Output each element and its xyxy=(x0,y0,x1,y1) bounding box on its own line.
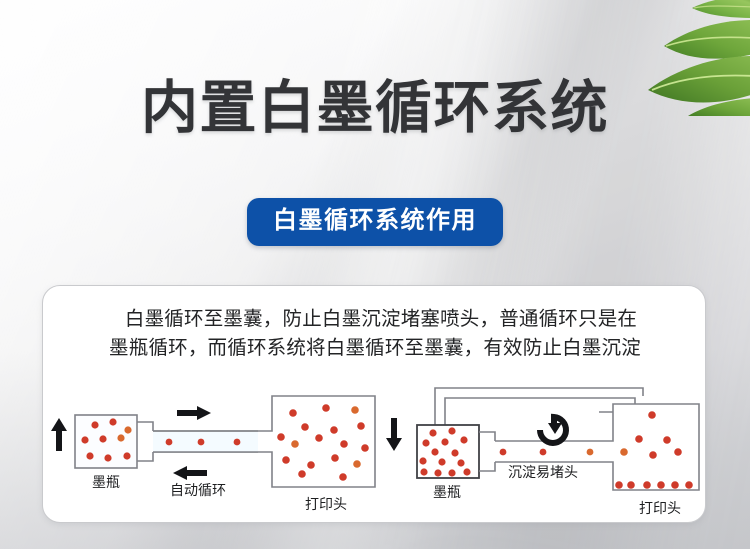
ink-bottle-left-neck xyxy=(137,422,153,461)
outer-return-pipe-right xyxy=(435,388,643,426)
info-card: 白墨循环至墨囊，防止白墨沉淀堵塞喷头，普通循环只是在 墨瓶循环，而循环系统将白墨… xyxy=(42,285,706,523)
card-body-line-2: 墨瓶循环，而循环系统将白墨循环至墨囊，有效防止白墨沉淀 xyxy=(109,336,641,359)
page-title: 内置白墨循环系统 xyxy=(0,74,750,142)
inner-return-pipe-right xyxy=(445,398,635,426)
label-auto-circulation: 自动循环 xyxy=(170,483,226,499)
badge-container: 白墨循环系统作用 xyxy=(0,198,750,246)
ordinary-circulation-diagram: 墨瓶 沉淀易堵头 打印头 xyxy=(417,388,699,517)
circulation-system-diagram: 墨瓶 自动循环 打印头 xyxy=(51,396,402,513)
leaf-blade-2 xyxy=(664,20,750,59)
section-badge: 白墨循环系统作用 xyxy=(247,198,503,246)
label-sediment-clog: 沉淀易堵头 xyxy=(508,465,578,481)
leaf-blade-1 xyxy=(692,0,750,18)
label-ink-bottle-left: 墨瓶 xyxy=(92,475,120,491)
arrow-up-icon xyxy=(51,418,67,451)
label-printhead-left: 打印头 xyxy=(305,496,347,513)
ink-bottle-right-neck xyxy=(479,432,495,471)
promo-banner: 内置白墨循环系统 白墨循环系统作用 白墨循环至墨囊，防止白墨沉淀堵塞喷头，普通循… xyxy=(0,0,750,549)
arrow-down-icon xyxy=(386,418,402,451)
label-printhead-right: 打印头 xyxy=(639,500,681,517)
arrow-curved-right-icon xyxy=(540,417,566,443)
label-ink-bottle-right: 墨瓶 xyxy=(433,485,461,501)
card-body-line-1: 白墨循环至墨囊，防止白墨沉淀堵塞喷头，普通循环只是在 xyxy=(125,307,637,330)
arrow-right-icon xyxy=(177,406,211,420)
arrow-left-icon xyxy=(173,466,207,480)
diagram-area: 墨瓶 自动循环 打印头 xyxy=(43,382,705,522)
card-body-text: 白墨循环至墨囊，防止白墨沉淀堵塞喷头，普通循环只是在 墨瓶循环，而循环系统将白墨… xyxy=(61,304,689,362)
